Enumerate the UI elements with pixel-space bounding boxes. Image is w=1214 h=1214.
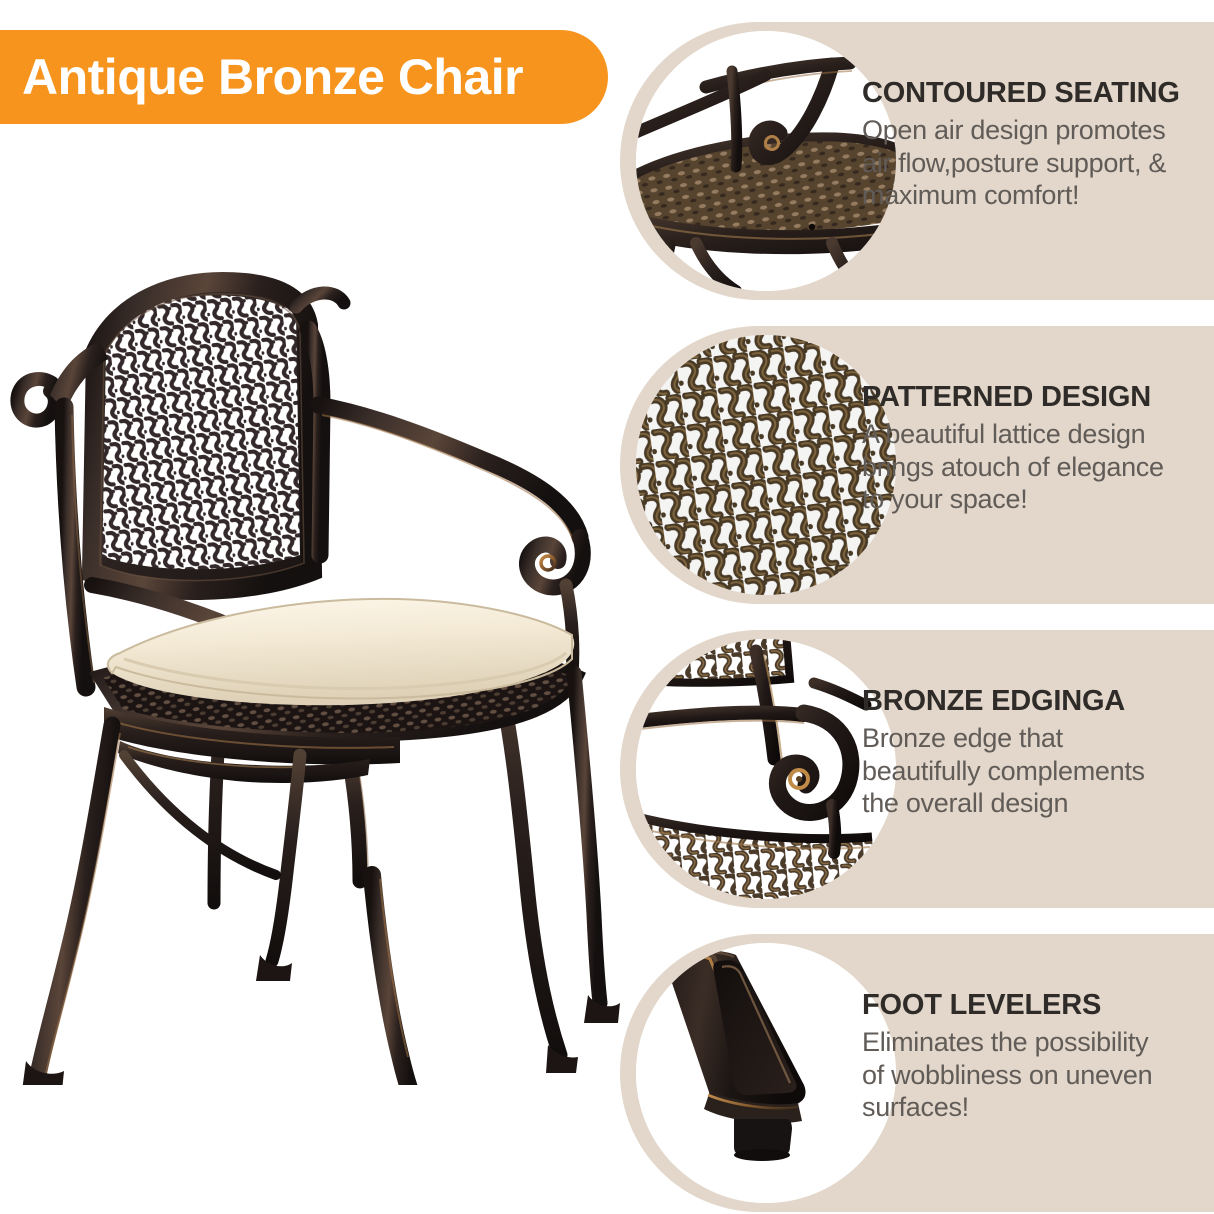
feature-description-line: brings atouch of elegance xyxy=(862,451,1208,483)
feature-description: Eliminates the possibility of wobbliness… xyxy=(862,1026,1208,1123)
feature-panel-bronze-edging: BRONZE EDGINGA Bronze edge that beautifu… xyxy=(620,630,1214,908)
feature-description-line: maximum comfort! xyxy=(862,179,1208,211)
feature-text-foot-levelers: FOOT LEVELERS Eliminates the possibility… xyxy=(862,990,1208,1123)
feature-text-bronze-edging: BRONZE EDGINGA Bronze edge that beautifu… xyxy=(862,686,1208,819)
feature-description-line: Eliminates the possibility xyxy=(862,1026,1208,1058)
feature-photo-foot-levelers xyxy=(636,943,896,1203)
feature-text-patterned-design: PATTERNED DESIGN A beautiful lattice des… xyxy=(862,382,1208,515)
feature-photo-patterned-design xyxy=(636,335,896,595)
feature-description-line: the overall design xyxy=(862,787,1208,819)
feature-photo-bronze-edging xyxy=(636,639,896,899)
hero-product-image xyxy=(0,255,620,1085)
feature-description-line: surfaces! xyxy=(862,1091,1208,1123)
feature-photo-contoured-seating xyxy=(636,31,896,291)
title-banner: Antique Bronze Chair xyxy=(0,30,608,124)
feature-description-line: A beautiful lattice design xyxy=(862,418,1208,450)
feature-title: BRONZE EDGINGA xyxy=(862,686,1208,717)
feature-panel-foot-levelers: FOOT LEVELERS Eliminates the possibility… xyxy=(620,934,1214,1212)
feature-description-line: air flow,posture support, & xyxy=(862,147,1208,179)
feature-description-line: Open air design promotes xyxy=(862,114,1208,146)
feature-description: Bronze edge that beautifully complements… xyxy=(862,722,1208,819)
page-title: Antique Bronze Chair xyxy=(22,52,523,102)
feature-title: FOOT LEVELERS xyxy=(862,990,1208,1021)
feature-description: Open air design promotes air flow,postur… xyxy=(862,114,1208,211)
feature-description: A beautiful lattice design brings atouch… xyxy=(862,418,1208,515)
feature-description-line: Bronze edge that xyxy=(862,722,1208,754)
feature-panel-patterned-design: PATTERNED DESIGN A beautiful lattice des… xyxy=(620,326,1214,604)
feature-title: CONTOURED SEATING xyxy=(862,78,1208,109)
feature-description-line: to your space! xyxy=(862,483,1208,515)
feature-description-line: of wobbliness on uneven xyxy=(862,1059,1208,1091)
feature-title: PATTERNED DESIGN xyxy=(862,382,1208,413)
feature-text-contoured-seating: CONTOURED SEATING Open air design promot… xyxy=(862,78,1208,211)
feature-description-line: beautifully complements xyxy=(862,755,1208,787)
feature-panel-contoured-seating: CONTOURED SEATING Open air design promot… xyxy=(620,22,1214,300)
